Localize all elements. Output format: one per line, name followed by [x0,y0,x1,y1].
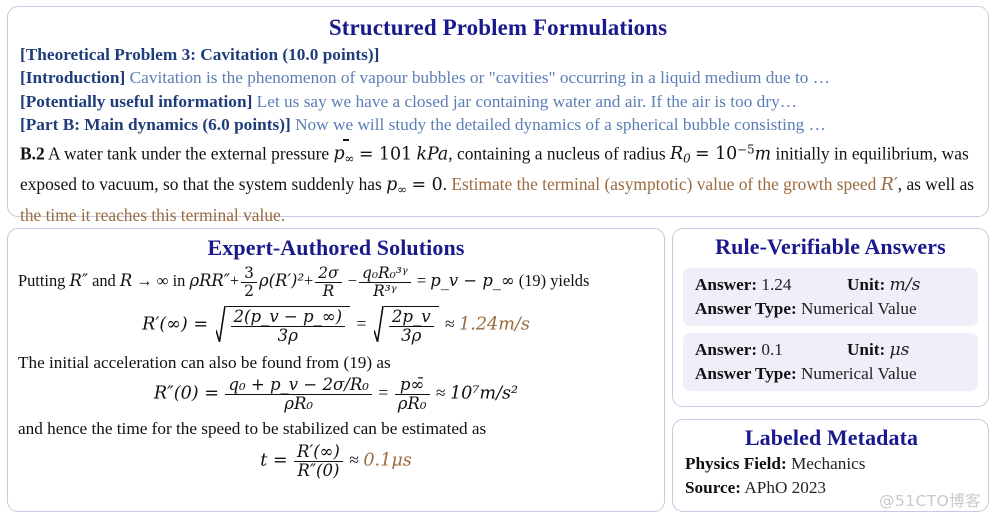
expert-solutions-panel: Expert-Authored Solutions Putting R″ and… [7,228,665,512]
answers-panel-title: Rule-Verifiable Answers [683,233,978,261]
question-ask1-math: R′ [881,175,898,195]
section-tag-introduction: [Introduction] [20,68,125,87]
question-ask-mid: , as well as [898,174,974,194]
eq-ref-19: (19) [519,271,546,290]
problem-header-text: [Theoretical Problem 3: Cavitation (10.0… [20,45,379,64]
frac-q0-pv-2sigma-over-rhoR0: q₀ + p_v − 2σ/R₀ρR₀ [225,376,372,413]
answer-card: Answer: 0.1 Unit: μs Answer Type: Numeri… [683,333,978,391]
solution-line-3: and hence the time for the speed to be s… [18,417,654,440]
sol-yields: yields [550,271,589,290]
answer-type-value: Numerical Value [801,364,917,383]
math-equals-1: = [417,271,426,290]
solutions-panel-title: Expert-Authored Solutions [18,234,654,262]
problem-section-introduction: [Introduction] Cavitation is the phenome… [20,66,976,89]
solution-line-1: Putting R″ and R → ∞ in ρRR″+32ρ(R′)²+2σ… [18,265,654,299]
math-plus-1: + [230,271,239,290]
math-rho-Rprime-squared: ρ(R′)² [259,271,304,290]
sqrt-radical-icon [216,305,226,344]
eq-approx-1: ≈ [445,314,455,334]
math-pv-minus-pinf: p_v − p_∞ [430,271,514,290]
sqrt-radical-icon-2 [374,305,384,344]
math-R-double-prime: R″ [69,271,87,290]
eq-result-acceleration: 10⁷m/s² [450,383,518,403]
eq-result-terminal-speed: 1.24m/s [459,315,530,335]
unit-value: μs [890,340,910,360]
math-frac-q0R0-R3gamma: q₀R₀³ᵞR³ᵞ [359,265,411,299]
unit-value: m/s [890,275,921,295]
question-part1: A water tank under the external pressure [48,143,329,163]
unit-label: Unit: [847,340,885,359]
math-eq-10: = 10−5 [695,144,755,164]
answer-row-type: Answer Type: Numerical Value [695,362,966,385]
frac-Rprime-over-Rpp: R′(∞)R″(0) [294,443,343,480]
problem-panel-title: Structured Problem Formulations [20,13,976,43]
sqrt-2pv-over-3rho: 2p_v3ρ [373,306,439,345]
sol-limit-in: → ∞ in [136,271,185,290]
frac-pinf-over-rhoR0: p∞̄ρR₀ [395,376,430,413]
equation-initial-acceleration: R″(0) = q₀ + p_v − 2σ/R₀ρR₀ = p∞̄ρR₀ ≈ 1… [18,376,654,413]
source-value: APhO 2023 [744,478,826,497]
section-tag-useful-info: [Potentially useful information] [20,92,252,111]
physics-field-label: Physics Field: [685,454,787,473]
structured-problem-panel: Structured Problem Formulations [Theoret… [7,6,989,217]
sol-putting: Putting [18,271,65,290]
math-eq-zero: = 0 [411,175,442,195]
source-label: Source: [685,478,741,497]
metadata-source: Source: APhO 2023 [685,476,978,500]
math-p-infinity-bar: p∞ [333,142,354,172]
math-unit-m: m [755,144,772,164]
answer-value: 1.24 [761,275,791,294]
section-text-introduction: Cavitation is the phenomenon of vapour b… [130,68,830,87]
section-text-useful-info: Let us say we have a closed jar containi… [257,92,797,111]
eq-approx-3: ≈ [349,449,359,469]
question-part3-end: . [443,174,447,194]
math-minus-1: − [348,271,357,290]
math-frac-3-2: 32 [241,265,257,299]
question-ask2: the time it reaches this terminal value. [20,205,285,225]
question-label: B.2 [20,143,45,163]
eq-lhs-Rpp-zero: R″(0) = [154,383,219,403]
math-p-infinity: p∞ [386,175,407,195]
math-rho-R-Rpp: ρRR″ [189,271,229,290]
sol-and: and [92,271,116,290]
page-root: Structured Problem Formulations [Theoret… [0,0,997,518]
problem-section-useful-info: [Potentially useful information] Let us … [20,90,976,113]
eq-equals-2: = [357,314,367,334]
question-b2: B.2 A water tank under the external pres… [20,138,976,229]
math-unit-kpa: kPa [416,144,448,164]
metadata-physics-field: Physics Field: Mechanics [685,452,978,476]
section-text-part-b: Now we will study the detailed dynamics … [295,115,826,134]
question-part2: , containing a nucleus of radius [448,143,665,163]
eq-equals-3: = [378,382,388,402]
answer-type-value: Numerical Value [801,299,917,318]
answer-value: 0.1 [761,340,782,359]
answer-row-type: Answer Type: Numerical Value [695,297,966,320]
math-R0: R0 [670,144,691,164]
eq-approx-2: ≈ [436,382,446,402]
eq-lhs-Rprime-infinity: R′(∞) = [142,315,208,335]
answer-row-value: Answer: 1.24 Unit: m/s [695,273,966,297]
metadata-panel-title: Labeled Metadata [685,424,978,452]
physics-field-value: Mechanics [791,454,865,473]
labeled-metadata-panel: Labeled Metadata Physics Field: Mechanic… [672,419,989,512]
question-ask1: Estimate the terminal (asymptotic) value… [451,174,876,194]
equation-terminal-speed: R′(∞) = 2(p_v − p_∞)3ρ = 2p_v3ρ ≈ 1.24m/ [18,306,654,345]
eq-result-time: 0.1μs [363,450,411,470]
math-R: R [120,271,132,290]
sqrt-2pv-minus-pinf-over-3rho: 2(p_v − p_∞)3ρ [215,306,351,345]
problem-section-part-b: [Part B: Main dynamics (6.0 points)] Now… [20,113,976,136]
answer-type-label: Answer Type: [695,299,797,318]
math-eq-101: = 101 [359,144,412,164]
rule-verifiable-answers-panel: Rule-Verifiable Answers Answer: 1.24 Uni… [672,228,989,407]
answer-card: Answer: 1.24 Unit: m/s Answer Type: Nume… [683,268,978,326]
answer-type-label: Answer Type: [695,364,797,383]
section-tag-part-b: [Part B: Main dynamics (6.0 points)] [20,115,291,134]
eq-lhs-t: t = [260,450,287,470]
equation-time: t = R′(∞)R″(0) ≈ 0.1μs [18,443,654,480]
answer-row-value: Answer: 0.1 Unit: μs [695,338,966,362]
answer-label: Answer: [695,275,757,294]
problem-header-line: [Theoretical Problem 3: Cavitation (10.0… [20,43,976,66]
math-plus-2: + [304,271,313,290]
answer-label: Answer: [695,340,757,359]
solution-line-2: The initial acceleration can also be fou… [18,351,654,374]
unit-label: Unit: [847,275,885,294]
math-frac-2sigma-R: 2σR [315,265,341,299]
